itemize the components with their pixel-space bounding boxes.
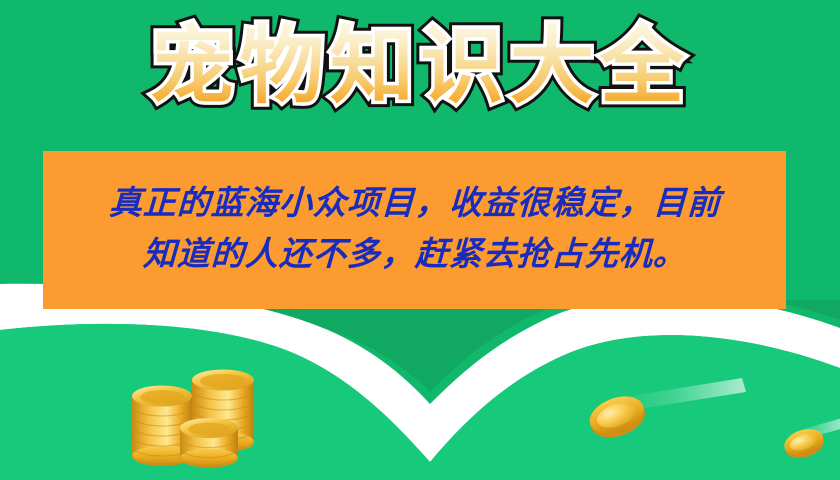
subtitle-line-1: 真正的蓝海小众项目，收益很稳定，目前 bbox=[108, 177, 722, 228]
subtitle-line-2: 知道的人还不多，赶紧去抢占先机。 bbox=[142, 228, 688, 279]
flying-gold-coin-icon bbox=[586, 392, 648, 440]
gold-coin-stacks-icon bbox=[120, 362, 280, 480]
poster-title: 宠物知识大全 宠物知识大全 宠物知识大全 bbox=[0, 8, 840, 126]
flying-gold-coin-icon bbox=[782, 426, 826, 460]
title-fill-layer: 宠物知识大全 bbox=[150, 22, 690, 111]
subtitle-panel: 真正的蓝海小众项目，收益很稳定，目前 知道的人还不多，赶紧去抢占先机。 bbox=[43, 151, 786, 309]
poster-canvas: 宠物知识大全 宠物知识大全 宠物知识大全 真正的蓝海小众项目，收益很稳定，目前 … bbox=[0, 0, 840, 480]
